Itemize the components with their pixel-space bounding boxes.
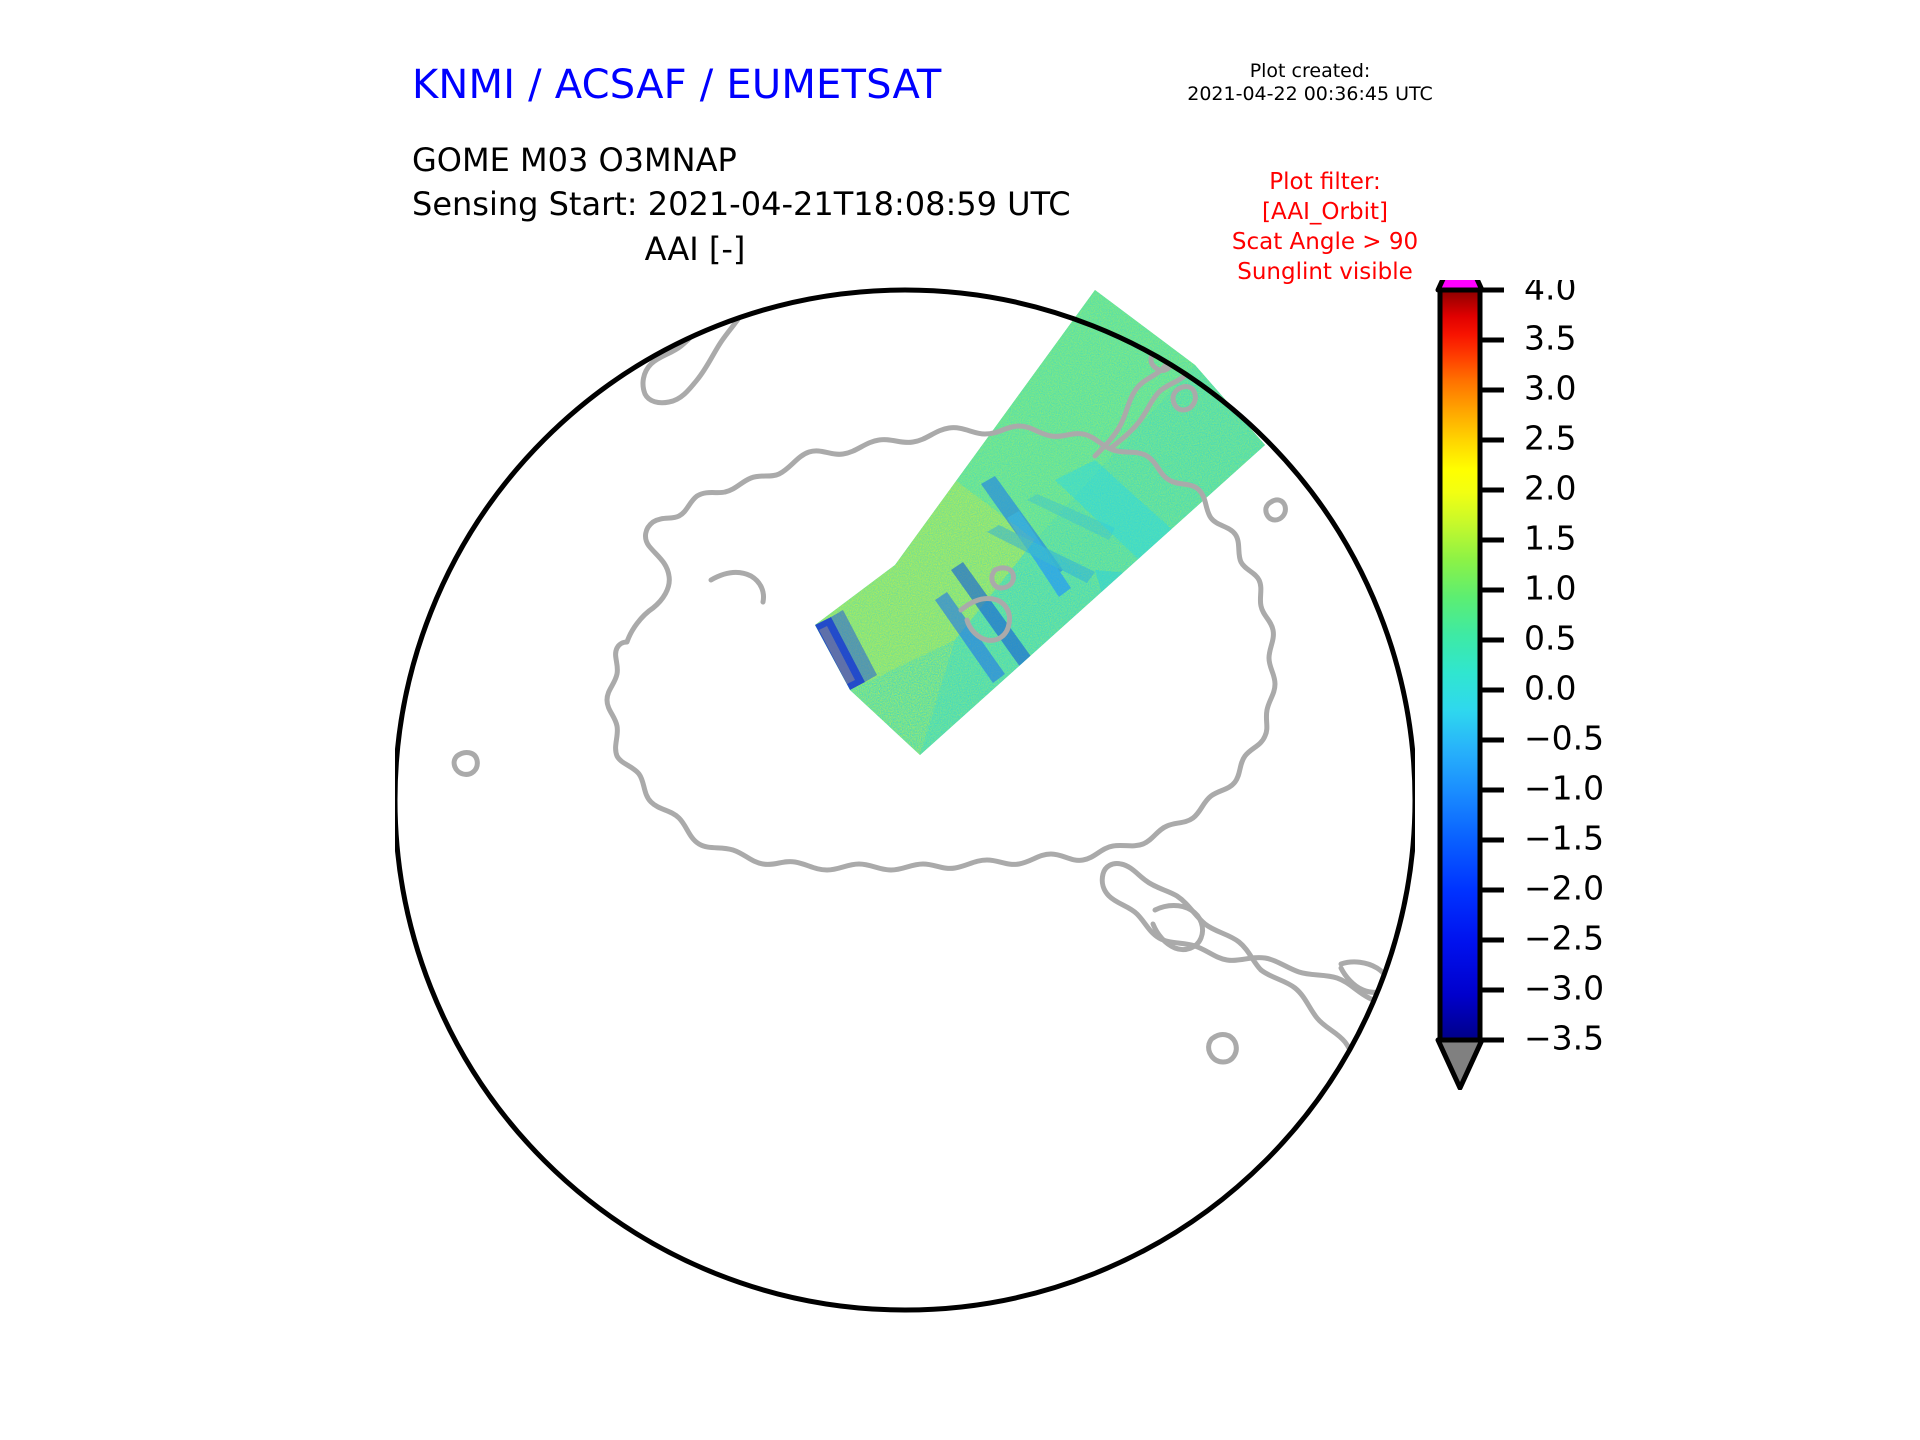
colorbar-under-arrow [1438, 1040, 1482, 1088]
cb-label-7: 0.5 [1524, 619, 1576, 658]
colorbar-gradient [1440, 290, 1480, 1040]
cb-label-12: −2.0 [1524, 869, 1604, 908]
plot-filter-name: [AAI_Orbit] [1160, 198, 1490, 228]
plot-filter-label: Plot filter: [1160, 168, 1490, 198]
cb-label-11: −1.5 [1524, 819, 1604, 858]
cb-label-13: −2.5 [1524, 919, 1604, 958]
polar-map [395, 270, 1415, 1330]
cb-label-5: 1.5 [1524, 519, 1576, 558]
island-macquarie [487, 313, 510, 338]
colorbar: 4.0 3.5 3.0 2.5 2.0 1.5 1.0 0.5 0.0 −0.5… [1432, 280, 1852, 1090]
cb-label-6: 1.0 [1524, 569, 1576, 608]
organisation-title: KNMI / ACSAF / EUMETSAT [412, 62, 942, 108]
colorbar-ticks [1480, 290, 1504, 1040]
plot-created-block: Plot created: 2021-04-22 00:36:45 UTC [1160, 60, 1460, 106]
island-balleny [542, 333, 579, 369]
plot-created-label: Plot created: [1160, 60, 1460, 83]
cb-label-15: −3.5 [1524, 1019, 1604, 1058]
instrument-title: GOME M03 O3MNAP [412, 140, 737, 181]
sensing-start-line: Sensing Start: 2021-04-21T18:08:59 UTC [412, 185, 1071, 223]
figure-canvas: KNMI / ACSAF / EUMETSAT Plot created: 20… [0, 0, 1920, 1440]
cb-label-8: 0.0 [1524, 669, 1576, 708]
colorbar-over-arrow [1438, 280, 1482, 290]
cb-label-4: 2.0 [1524, 469, 1576, 508]
cb-label-9: −0.5 [1524, 719, 1604, 758]
cb-label-14: −3.0 [1524, 969, 1604, 1008]
plot-filter-condition: Scat Angle > 90 [1160, 228, 1490, 258]
cb-label-3: 2.5 [1524, 419, 1576, 458]
colorbar-svg: 4.0 3.5 3.0 2.5 2.0 1.5 1.0 0.5 0.0 −0.5… [1432, 280, 1852, 1090]
cb-label-10: −1.0 [1524, 769, 1604, 808]
cb-label-2: 3.0 [1524, 369, 1576, 408]
colorbar-tick-labels: 4.0 3.5 3.0 2.5 2.0 1.5 1.0 0.5 0.0 −0.5… [1524, 280, 1604, 1058]
plot-created-value: 2021-04-22 00:36:45 UTC [1160, 83, 1460, 106]
map-panel [395, 270, 1415, 1330]
cb-label-0: 4.0 [1524, 280, 1576, 308]
new-zealand-north-island [751, 270, 779, 280]
cb-label-1: 3.5 [1524, 319, 1576, 358]
